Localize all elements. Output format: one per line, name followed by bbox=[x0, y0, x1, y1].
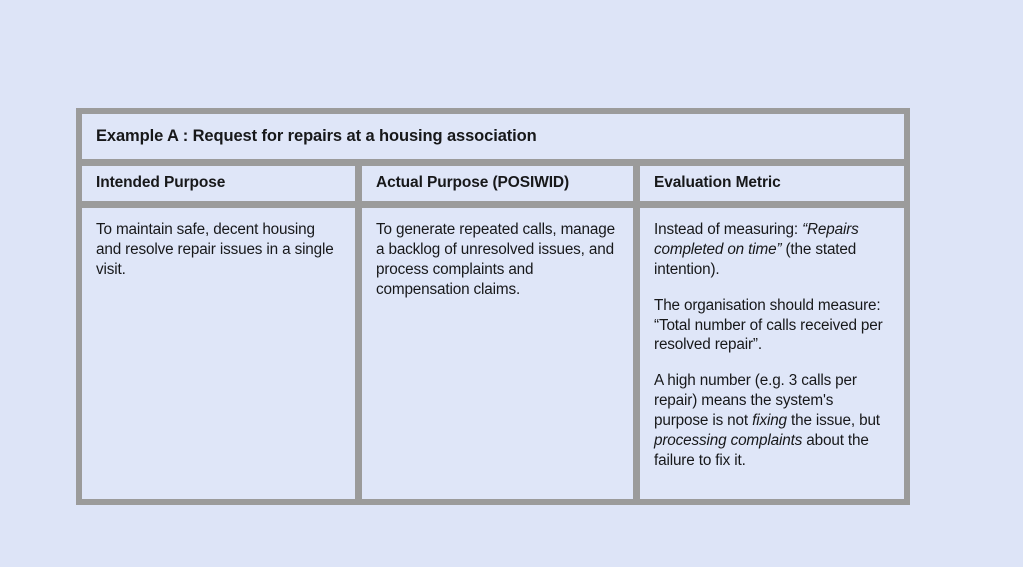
cell-paragraph-2: The organisation should measure: “Total … bbox=[654, 296, 890, 356]
cell-text: To generate repeated calls, manage a bac… bbox=[376, 220, 619, 300]
paragraph-1-lead: Instead of measuring: bbox=[654, 221, 802, 238]
table-body-row: To maintain safe, decent housing and res… bbox=[82, 208, 904, 499]
paragraph-3-italic-processing-complaints: processing complaints bbox=[654, 432, 802, 449]
paragraph-3-italic-fixing: fixing bbox=[752, 412, 787, 429]
column-header-label: Actual Purpose (POSIWID) bbox=[376, 174, 569, 193]
cell-evaluation-metric: Instead of measuring: “Repairs completed… bbox=[640, 208, 904, 499]
column-header-intended-purpose: Intended Purpose bbox=[82, 166, 355, 201]
cell-intended-purpose: To maintain safe, decent housing and res… bbox=[82, 208, 355, 499]
row-divider bbox=[82, 159, 904, 166]
column-divider bbox=[633, 208, 640, 499]
cell-text: To maintain safe, decent housing and res… bbox=[96, 220, 341, 280]
cell-paragraph-3: A high number (e.g. 3 calls per repair) … bbox=[654, 371, 890, 470]
paragraph-3-part-2: the issue, but bbox=[787, 412, 880, 429]
page-canvas: Example A : Request for repairs at a hou… bbox=[0, 0, 1023, 567]
column-divider bbox=[355, 208, 362, 499]
column-header-evaluation-metric: Evaluation Metric bbox=[640, 166, 904, 201]
column-header-label: Evaluation Metric bbox=[654, 174, 781, 193]
comparison-table: Example A : Request for repairs at a hou… bbox=[76, 108, 910, 505]
column-divider bbox=[355, 166, 362, 201]
column-header-label: Intended Purpose bbox=[96, 174, 225, 193]
table-title-cell: Example A : Request for repairs at a hou… bbox=[82, 114, 904, 159]
cell-paragraph-1: Instead of measuring: “Repairs completed… bbox=[654, 220, 890, 280]
column-divider bbox=[633, 166, 640, 201]
row-divider bbox=[82, 201, 904, 208]
column-header-actual-purpose: Actual Purpose (POSIWID) bbox=[362, 166, 633, 201]
table-header-row: Intended Purpose Actual Purpose (POSIWID… bbox=[82, 166, 904, 201]
page-title: Example A : Request for repairs at a hou… bbox=[96, 127, 537, 147]
cell-actual-purpose: To generate repeated calls, manage a bac… bbox=[362, 208, 633, 499]
table-title-row: Example A : Request for repairs at a hou… bbox=[82, 114, 904, 159]
